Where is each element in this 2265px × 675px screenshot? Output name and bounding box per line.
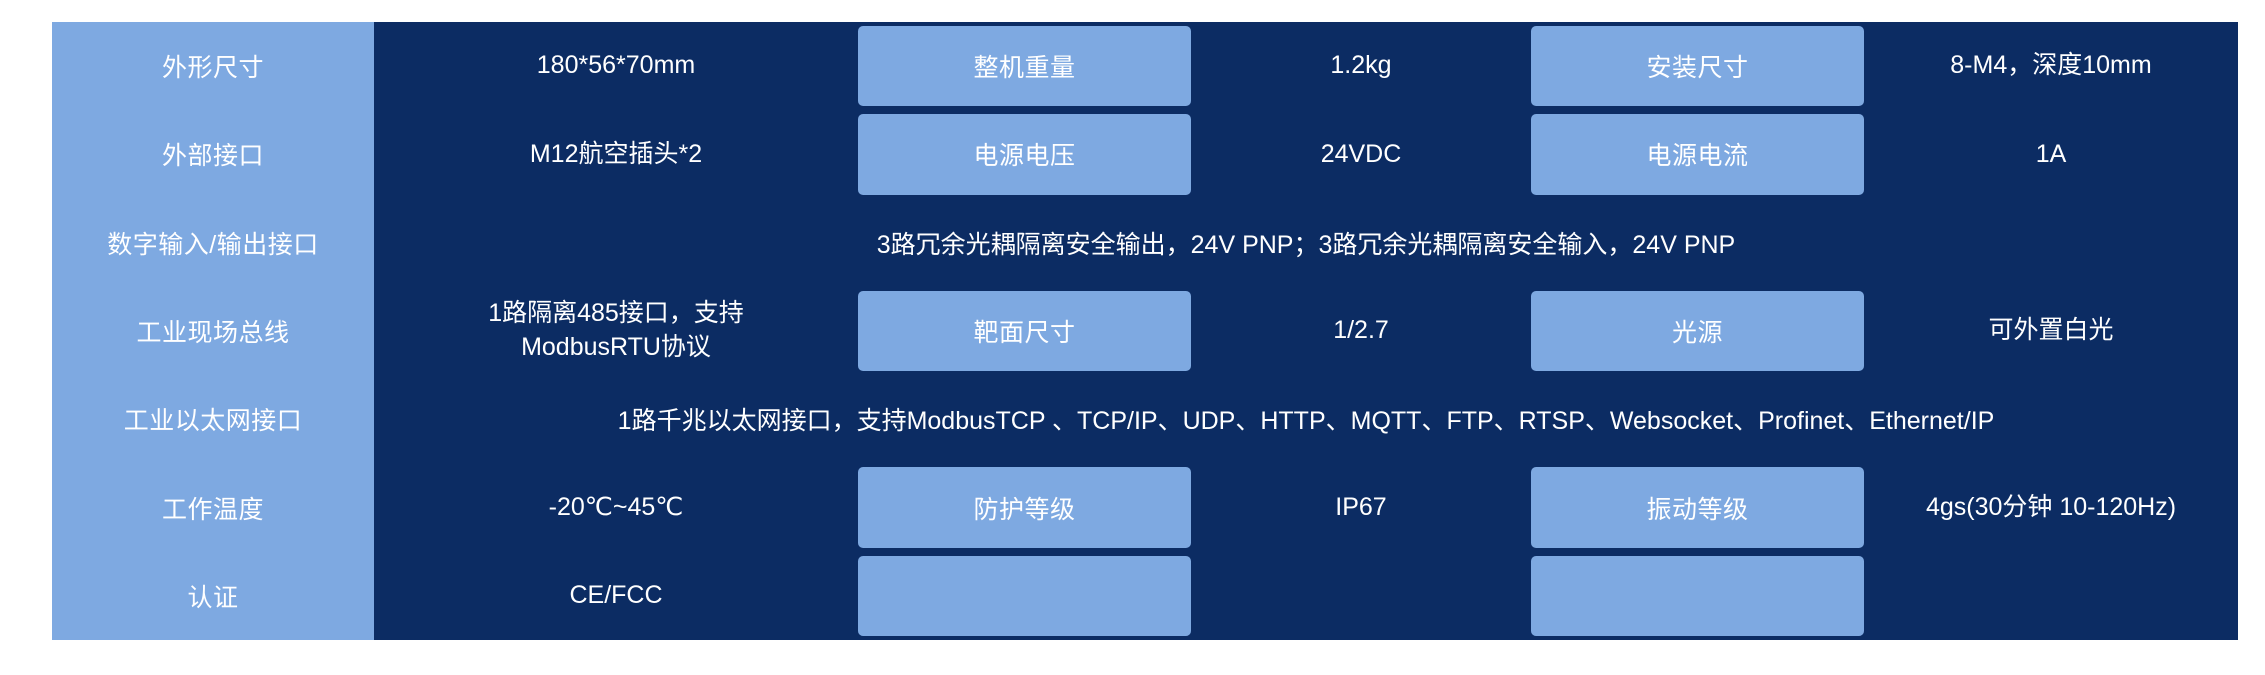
spec-value-empty-2	[1864, 552, 2238, 640]
spec-badge-light-source: 光源	[1531, 291, 1864, 371]
spec-value-light-source: 可外置白光	[1864, 287, 2238, 375]
spec-badge-mounting: 安装尺寸	[1531, 26, 1864, 106]
spec-badge-cell-weight: 整机重量	[858, 22, 1191, 110]
spec-badge-cell-light-source: 光源	[1531, 287, 1864, 375]
spec-badge-supply-voltage: 电源电压	[858, 114, 1191, 194]
spec-value-digital-io: 3路冗余光耦隔离安全输出，24V PNP；3路冗余光耦隔离安全输入，24V PN…	[374, 199, 2238, 287]
spec-badge-cell-supply-current: 电源电流	[1531, 110, 1864, 198]
spec-row-dimensions: 180*56*70mm 整机重量 1.2kg 安装尺寸 8-M4，深度10mm	[374, 22, 2238, 110]
spec-badge-weight: 整机重量	[858, 26, 1191, 106]
spec-value-industrial-ethernet: 1路千兆以太网接口，支持ModbusTCP 、TCP/IP、UDP、HTTP、M…	[374, 375, 2238, 463]
spec-value-weight: 1.2kg	[1191, 22, 1531, 110]
spec-value-ip-rating: IP67	[1191, 463, 1531, 551]
spec-row-fieldbus: 1路隔离485接口，支持 ModbusRTU协议 靶面尺寸 1/2.7 光源 可…	[374, 287, 2238, 375]
spec-badge-cell-mounting: 安装尺寸	[1531, 22, 1864, 110]
spec-value-empty-1	[1191, 552, 1531, 640]
spec-label-industrial-ethernet: 工业以太网接口	[52, 375, 374, 463]
spec-badge-empty-1	[858, 556, 1191, 636]
spec-row-industrial-ethernet: 1路千兆以太网接口，支持ModbusTCP 、TCP/IP、UDP、HTTP、M…	[374, 375, 2238, 463]
spec-value-vibration-rating: 4gs(30分钟 10-120Hz)	[1864, 463, 2238, 551]
spec-badge-supply-current: 电源电流	[1531, 114, 1864, 194]
spec-badge-empty-2	[1531, 556, 1864, 636]
spec-badge-cell-empty-2	[1531, 552, 1864, 640]
spec-value-operating-temperature: -20℃~45℃	[374, 463, 858, 551]
spec-value-supply-current: 1A	[1864, 110, 2238, 198]
spec-label-column: 外形尺寸 外部接口 数字输入/输出接口 工业现场总线 工业以太网接口 工作温度 …	[52, 22, 374, 640]
specification-table: 外形尺寸 外部接口 数字输入/输出接口 工业现场总线 工业以太网接口 工作温度 …	[52, 22, 2238, 640]
spec-value-fieldbus: 1路隔离485接口，支持 ModbusRTU协议	[374, 287, 858, 375]
spec-label-digital-io: 数字输入/输出接口	[52, 199, 374, 287]
spec-value-sensor-size: 1/2.7	[1191, 287, 1531, 375]
spec-body-column: 180*56*70mm 整机重量 1.2kg 安装尺寸 8-M4，深度10mm …	[374, 22, 2238, 640]
spec-badge-vibration-rating: 振动等级	[1531, 467, 1864, 547]
spec-label-fieldbus: 工业现场总线	[52, 287, 374, 375]
spec-row-digital-io: 3路冗余光耦隔离安全输出，24V PNP；3路冗余光耦隔离安全输入，24V PN…	[374, 199, 2238, 287]
spec-label-operating-temperature: 工作温度	[52, 463, 374, 551]
spec-value-mounting: 8-M4，深度10mm	[1864, 22, 2238, 110]
spec-label-certification: 认证	[52, 552, 374, 640]
spec-row-certification: CE/FCC	[374, 552, 2238, 640]
spec-badge-cell-vibration-rating: 振动等级	[1531, 463, 1864, 551]
spec-value-certification: CE/FCC	[374, 552, 858, 640]
spec-value-external-interface: M12航空插头*2	[374, 110, 858, 198]
spec-badge-cell-ip-rating: 防护等级	[858, 463, 1191, 551]
spec-row-operating-temperature: -20℃~45℃ 防护等级 IP67 振动等级 4gs(30分钟 10-120H…	[374, 463, 2238, 551]
spec-row-external-interface: M12航空插头*2 电源电压 24VDC 电源电流 1A	[374, 110, 2238, 198]
spec-value-dimensions: 180*56*70mm	[374, 22, 858, 110]
spec-badge-ip-rating: 防护等级	[858, 467, 1191, 547]
spec-badge-sensor-size: 靶面尺寸	[858, 291, 1191, 371]
spec-value-supply-voltage: 24VDC	[1191, 110, 1531, 198]
spec-label-dimensions: 外形尺寸	[52, 22, 374, 110]
spec-badge-cell-supply-voltage: 电源电压	[858, 110, 1191, 198]
spec-label-external-interface: 外部接口	[52, 110, 374, 198]
spec-badge-cell-empty-1	[858, 552, 1191, 640]
spec-badge-cell-sensor-size: 靶面尺寸	[858, 287, 1191, 375]
